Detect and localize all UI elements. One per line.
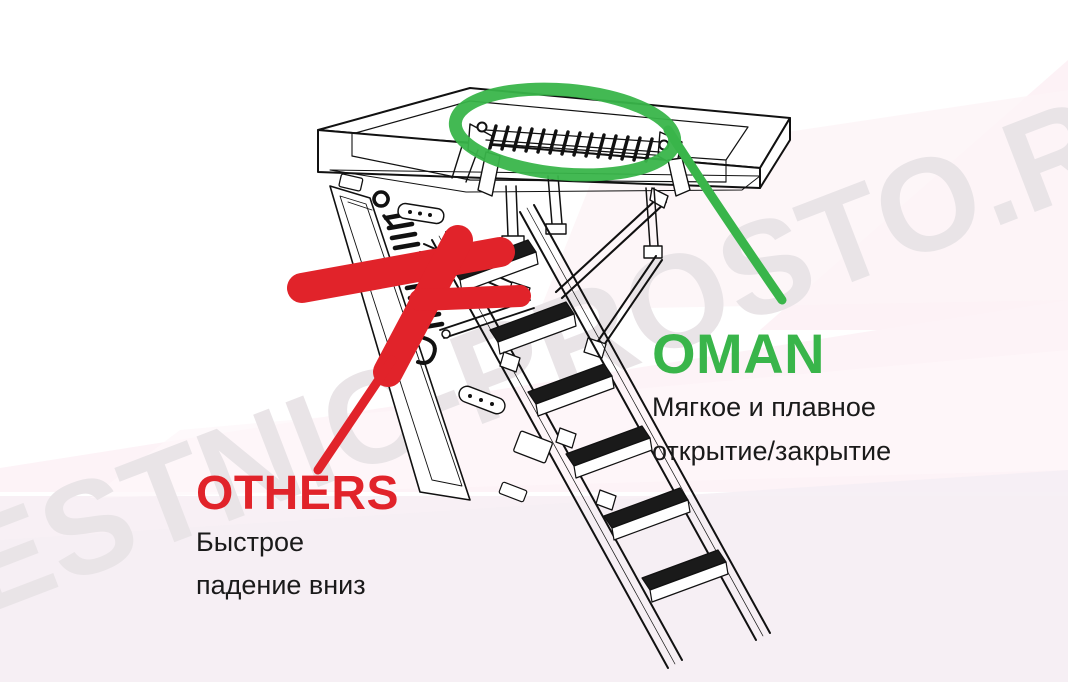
others-caption-line-2: падение вниз — [196, 568, 399, 604]
green-highlight-annotation — [452, 81, 782, 300]
oman-caption-line-2: открытие/закрытие — [652, 434, 891, 470]
oman-label-group: OMAN Мягкое и плавное открытие/закрытие — [652, 326, 891, 469]
others-label-group: OTHERS Быстрое падение вниз — [196, 470, 399, 603]
oman-caption-line-1: Мягкое и плавное — [652, 390, 891, 426]
red-cross-annotation — [302, 240, 520, 470]
others-brand-title: OTHERS — [196, 470, 399, 518]
comparison-infographic: LESTNIC-PROSTO.RU — [0, 0, 1068, 682]
others-caption-line-1: Быстрое — [196, 525, 399, 561]
oman-brand-title: OMAN — [652, 326, 891, 382]
annotation-marks — [0, 0, 1068, 682]
